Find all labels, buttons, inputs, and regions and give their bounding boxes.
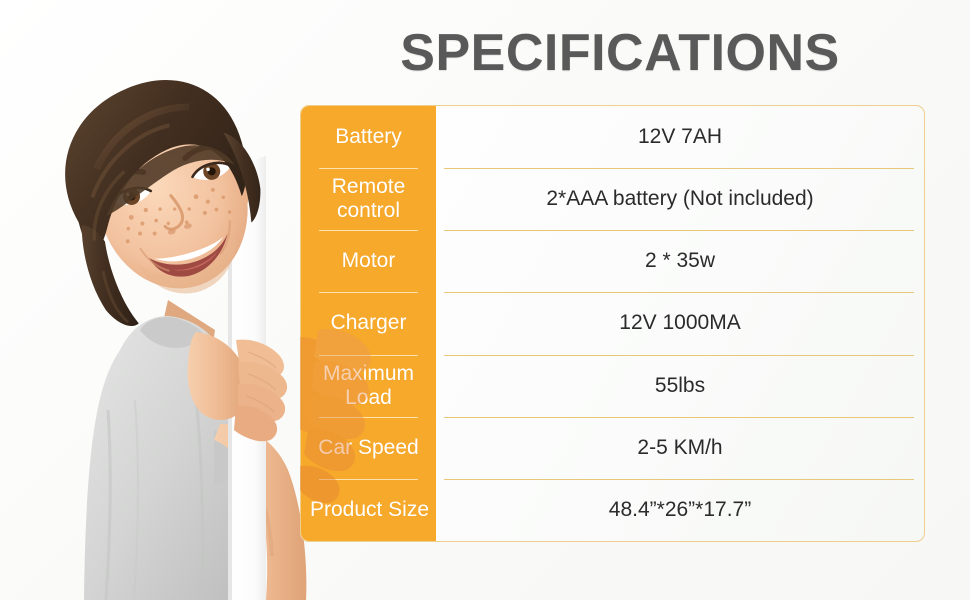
page-title: SPECIFICATIONS — [300, 22, 940, 84]
spec-value-charger: 12V 1000MA — [436, 292, 924, 354]
spec-label-text: Battery — [335, 125, 402, 149]
spec-value-car-speed: 2-5 KM/h — [436, 417, 924, 479]
spec-label-text: Car Speed — [318, 436, 418, 460]
spec-label-maximum-load: Maximum Load — [301, 355, 436, 417]
spec-label-text: Remote control — [332, 175, 406, 223]
spec-value-remote-control: 2*AAA battery (Not included) — [436, 168, 924, 230]
specifications-page: SPECIFICATIONS Battery 12V 7AH Remote co… — [0, 0, 970, 600]
table-row: Car Speed 2-5 KM/h — [301, 417, 924, 479]
table-row: Motor 2 * 35w — [301, 230, 924, 292]
spec-label-text: Charger — [331, 311, 407, 335]
spec-label-charger: Charger — [301, 292, 436, 354]
spec-label-battery: Battery — [301, 106, 436, 168]
spec-label-remote-control: Remote control — [301, 168, 436, 230]
spec-value-motor: 2 * 35w — [436, 230, 924, 292]
spec-label-text: Maximum Load — [323, 362, 414, 410]
spec-label-text: Product Size — [310, 498, 429, 522]
table-row: Remote control 2*AAA battery (Not includ… — [301, 168, 924, 230]
specifications-card: Battery 12V 7AH Remote control 2*AAA bat… — [300, 105, 925, 542]
product-model-photo — [0, 0, 330, 600]
spec-label-motor: Motor — [301, 230, 436, 292]
spec-label-product-size: Product Size — [301, 479, 436, 541]
table-row: Product Size 48.4”*26”*17.7” — [301, 479, 924, 541]
specifications-table: Battery 12V 7AH Remote control 2*AAA bat… — [301, 106, 924, 541]
table-row: Maximum Load 55lbs — [301, 355, 924, 417]
spec-label-car-speed: Car Speed — [301, 417, 436, 479]
spec-label-text: Motor — [342, 249, 396, 273]
table-row: Charger 12V 1000MA — [301, 292, 924, 354]
table-row: Battery 12V 7AH — [301, 106, 924, 168]
spec-value-battery: 12V 7AH — [436, 106, 924, 168]
spec-value-maximum-load: 55lbs — [436, 355, 924, 417]
spec-value-product-size: 48.4”*26”*17.7” — [436, 479, 924, 541]
boy-illustration — [0, 0, 330, 600]
